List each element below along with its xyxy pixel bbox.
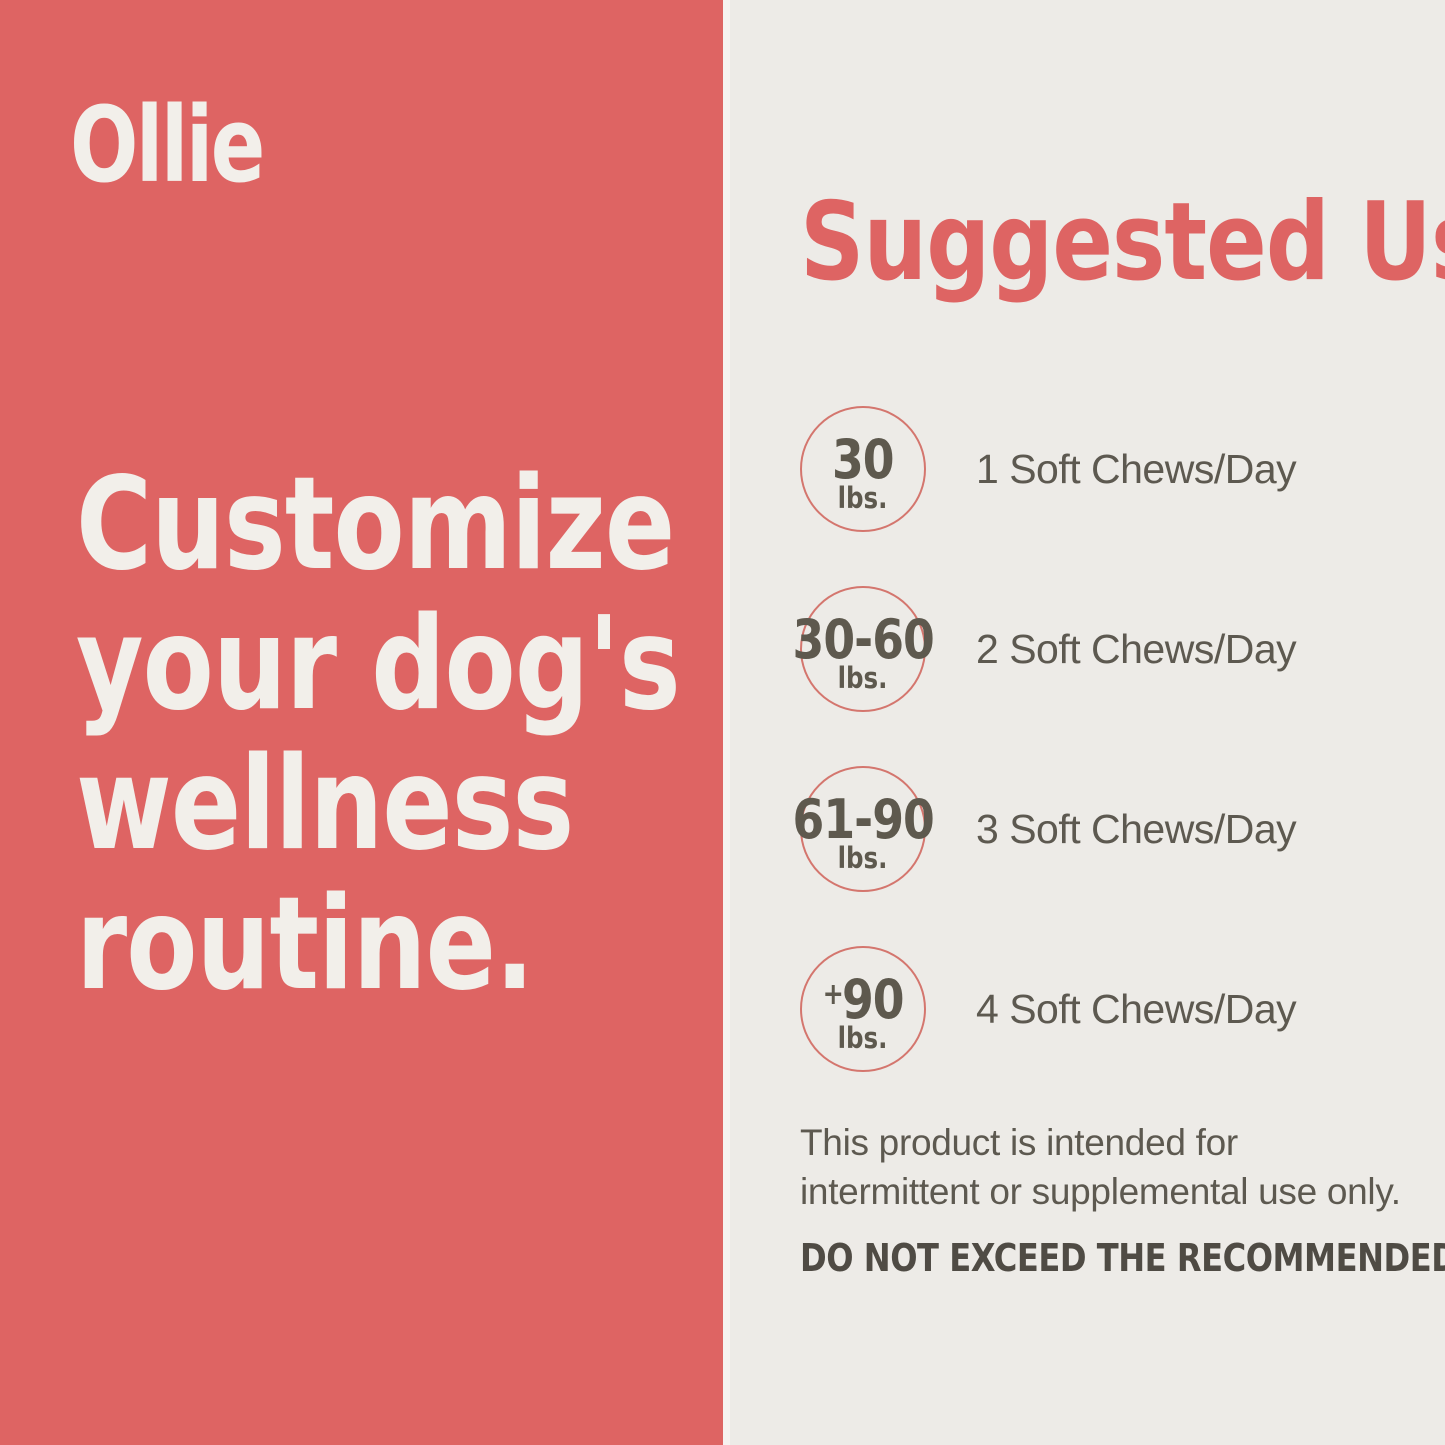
panel-divider bbox=[723, 0, 730, 1445]
dosage-label: 3 Soft Chews/Day bbox=[976, 806, 1296, 852]
weight-badge-unit: lbs. bbox=[838, 1023, 888, 1053]
product-info-panel: Ollie Customize your dog's wellness rout… bbox=[0, 0, 1445, 1445]
weight-badge-unit: lbs. bbox=[838, 843, 888, 873]
headline-line-3: wellness bbox=[76, 735, 634, 875]
weight-badge-value: 30-60 bbox=[792, 610, 933, 665]
dosage-label: 1 Soft Chews/Day bbox=[976, 446, 1296, 492]
weight-badge: 61-90 lbs. bbox=[800, 766, 926, 892]
weight-badge-value: 61-90 bbox=[792, 790, 933, 845]
suggested-use-title: Suggested Use bbox=[800, 188, 1445, 298]
weight-badge-unit: lbs. bbox=[838, 483, 888, 513]
headline-line-1: Customize bbox=[76, 455, 634, 595]
headline-line-2: your dog's bbox=[76, 595, 634, 735]
weight-badge: 30 lbs. bbox=[800, 406, 926, 532]
dosage-row: +90 lbs. 4 Soft Chews/Day bbox=[800, 946, 1400, 1126]
plus-sign: + bbox=[822, 977, 841, 1012]
weight-badge: 30-60 lbs. bbox=[800, 586, 926, 712]
weight-badge-unit: lbs. bbox=[838, 663, 888, 693]
weight-badge: +90 lbs. bbox=[800, 946, 926, 1072]
headline-line-4: routine. bbox=[76, 875, 634, 1015]
dosage-list: 30 lbs. 1 Soft Chews/Day 30-60 lbs. 2 So… bbox=[800, 406, 1400, 1126]
brand-logo: Ollie bbox=[70, 93, 263, 197]
page-headline: Customize your dog's wellness routine. bbox=[76, 455, 634, 1015]
dosage-label: 2 Soft Chews/Day bbox=[976, 626, 1296, 672]
weight-badge-value: +90 bbox=[822, 970, 903, 1025]
dosage-label: 4 Soft Chews/Day bbox=[976, 986, 1296, 1032]
weight-badge-value: 30 bbox=[832, 430, 894, 485]
disclaimer-note: This product is intended for intermitten… bbox=[800, 1118, 1410, 1216]
disclaimer-block: This product is intended for intermitten… bbox=[800, 1118, 1410, 1278]
dosage-row: 30-60 lbs. 2 Soft Chews/Day bbox=[800, 586, 1400, 766]
dosage-row: 61-90 lbs. 3 Soft Chews/Day bbox=[800, 766, 1400, 946]
disclaimer-warning: DO NOT EXCEED THE RECOMMENDED DAILY AMOU… bbox=[800, 1238, 1373, 1278]
dosage-row: 30 lbs. 1 Soft Chews/Day bbox=[800, 406, 1400, 586]
